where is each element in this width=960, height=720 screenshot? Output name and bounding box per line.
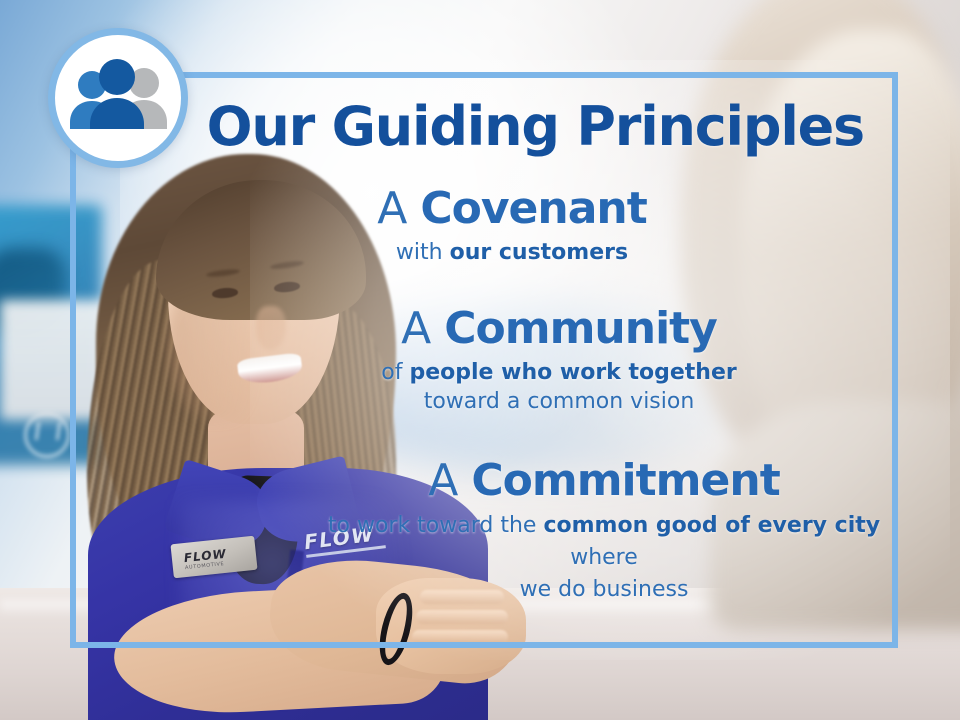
photo-associate-finger-2 <box>416 610 508 624</box>
guiding-principles-poster: FLOW AUTOMOTIVE FLOW <box>0 0 960 720</box>
people-group-badge <box>48 28 188 168</box>
photo-associate-finger-1 <box>420 590 504 604</box>
people-group-icon <box>65 59 171 137</box>
photo-associate: FLOW AUTOMOTIVE FLOW <box>60 120 520 720</box>
photo-customer-shoulder <box>710 400 960 630</box>
photo-customer-foreground <box>670 0 960 530</box>
photo-associate-finger-3 <box>412 630 508 644</box>
